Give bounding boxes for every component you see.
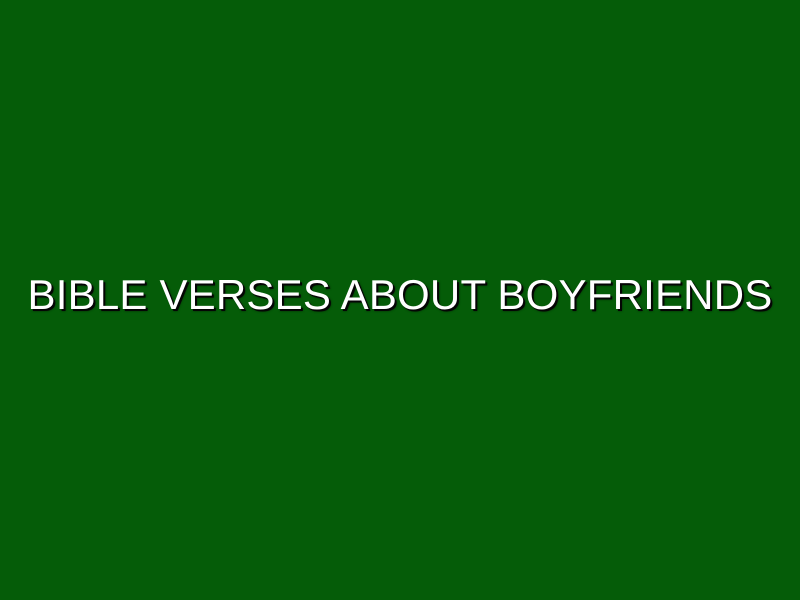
title-block: BIBLE VERSES ABOUT BOYFRIENDS: [0, 273, 800, 317]
title-card: BIBLE VERSES ABOUT BOYFRIENDS: [0, 0, 800, 600]
page-title: BIBLE VERSES ABOUT BOYFRIENDS: [28, 273, 773, 317]
